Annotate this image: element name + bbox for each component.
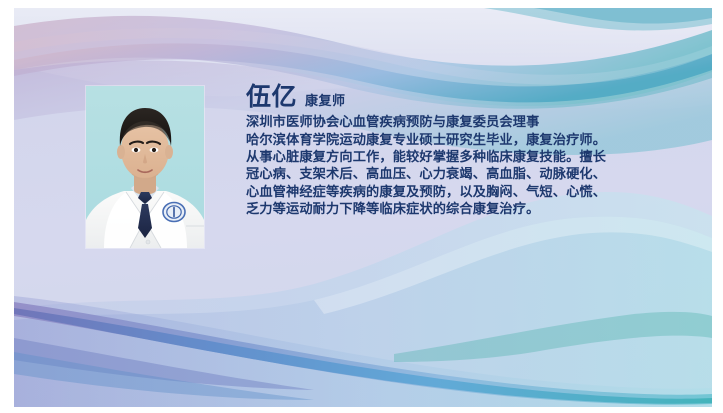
bio-text-block: 深圳市医师协会心血管疾病预防与康复委员会理事 哈尔滨体育学院运动康复专业硕士研究…	[246, 113, 698, 217]
bio-line: 冠心病、支架术后、高血压、心力衰竭、高血脂、动脉硬化、	[246, 165, 698, 182]
hospital-emblem-badge	[163, 203, 185, 222]
person-role: 康复师	[305, 90, 346, 109]
bio-line: 乏力等运动耐力下降等临床症状的综合康复治疗。	[246, 200, 698, 217]
profile-bio: 伍亿 康复师 深圳市医师协会心血管疾病预防与康复委员会理事 哈尔滨体育学院运动康…	[246, 84, 698, 218]
person-name: 伍亿	[246, 84, 297, 110]
bio-line: 心血管神经症等疾病的康复及预防，以及胸闷、气短、心慌、	[246, 183, 698, 200]
bio-line: 从事心脏康复方向工作，能较好掌握多种临床康复技能。擅长	[246, 148, 698, 165]
bio-line: 深圳市医师协会心血管疾病预防与康复委员会理事	[246, 113, 698, 130]
name-row: 伍亿 康复师	[246, 84, 698, 110]
portrait-photo	[86, 86, 204, 248]
avatar	[86, 86, 204, 248]
bio-line: 哈尔滨体育学院运动康复专业硕士研究生毕业，康复治疗师。	[246, 131, 698, 148]
slide-content-card: 伍亿 康复师 深圳市医师协会心血管疾病预防与康复委员会理事 哈尔滨体育学院运动康…	[14, 8, 712, 407]
presentation-slide: 伍亿 康复师 深圳市医师协会心血管疾病预防与康复委员会理事 哈尔滨体育学院运动康…	[0, 0, 723, 413]
